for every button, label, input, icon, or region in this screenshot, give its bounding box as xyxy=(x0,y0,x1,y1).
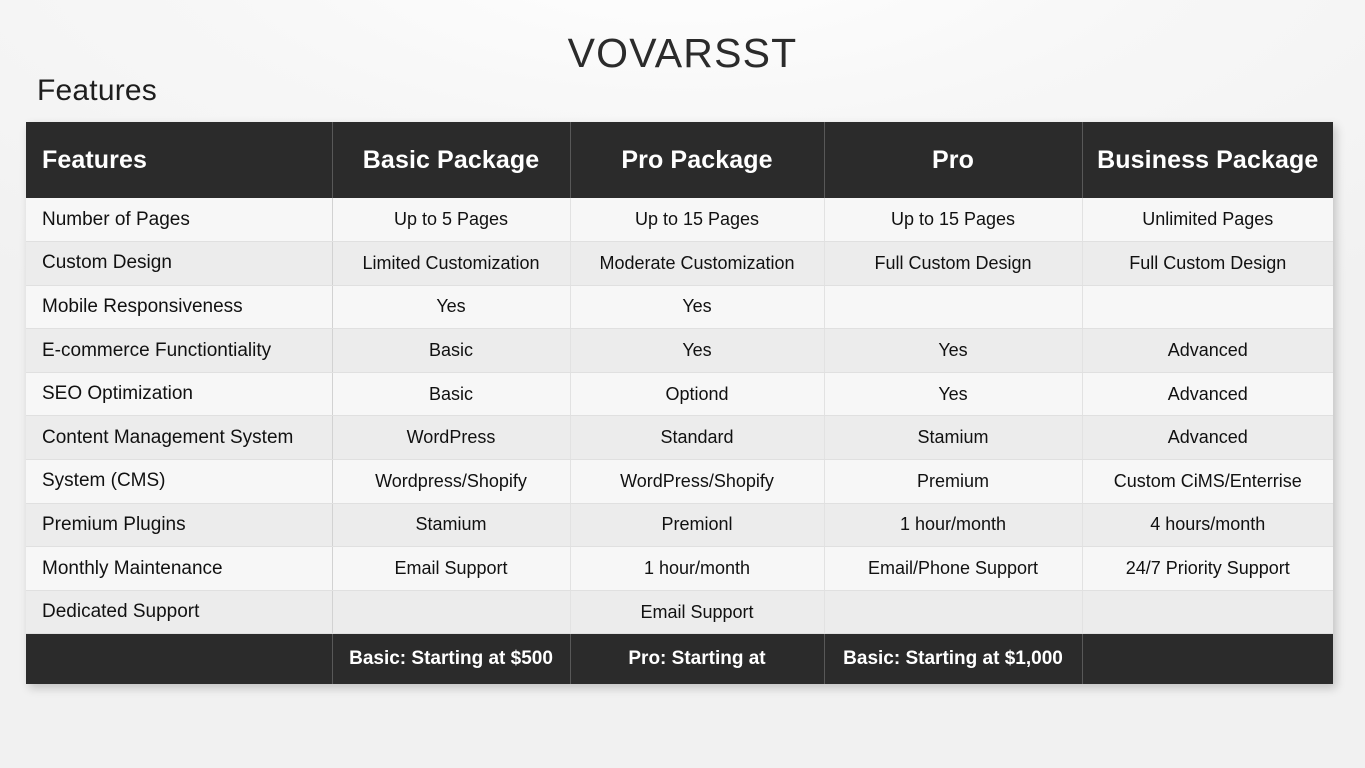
feature-value-cell-pro: 1 hour/month xyxy=(824,503,1082,547)
feature-value-cell-pro_pkg: Email Support xyxy=(570,590,824,634)
feature-value-cell-pro_pkg: Premionl xyxy=(570,503,824,547)
table-header: Features Basic Package Pro Package Pro B… xyxy=(26,122,1333,198)
feature-value-cell-basic: Basic xyxy=(332,372,570,416)
feature-value-cell-pro: Stamium xyxy=(824,416,1082,460)
table-row: Number of PagesUp to 5 PagesUp to 15 Pag… xyxy=(26,198,1333,242)
feature-value-cell-pro: Yes xyxy=(824,329,1082,373)
table-footer: Basic: Starting at $500 Pro: Starting at… xyxy=(26,634,1333,684)
feature-value-cell-pro_pkg: Up to 15 Pages xyxy=(570,198,824,242)
feature-value-cell-business: 4 hours/month xyxy=(1082,503,1333,547)
pricing-cell-business xyxy=(1082,634,1333,684)
feature-name-cell: SEO Optimization xyxy=(26,372,332,416)
feature-value-cell-business: Advanced xyxy=(1082,329,1333,373)
feature-name-cell: System (CMS) xyxy=(26,460,332,504)
feature-value-cell-basic: Email Support xyxy=(332,547,570,591)
column-header-features: Features xyxy=(26,122,332,198)
feature-value-cell-pro_pkg: Optiond xyxy=(570,372,824,416)
feature-value-cell-basic: Limited Customization xyxy=(332,242,570,286)
feature-value-cell-basic: Basic xyxy=(332,329,570,373)
feature-name-cell: Dedicated Support xyxy=(26,590,332,634)
column-header-pro: Pro xyxy=(824,122,1082,198)
feature-value-cell-pro_pkg: Moderate Customization xyxy=(570,242,824,286)
table-row: E-commerce FunctiontialityBasicYesYesAdv… xyxy=(26,329,1333,373)
feature-value-cell-business xyxy=(1082,590,1333,634)
feature-value-cell-basic: Up to 5 Pages xyxy=(332,198,570,242)
feature-name-cell: E-commerce Functiontiality xyxy=(26,329,332,373)
feature-value-cell-pro: Yes xyxy=(824,372,1082,416)
feature-value-cell-pro_pkg: Standard xyxy=(570,416,824,460)
feature-value-cell-business: Advanced xyxy=(1082,416,1333,460)
table-row: System (CMS)Wordpress/ShopifyWordPress/S… xyxy=(26,460,1333,504)
feature-value-cell-pro: Up to 15 Pages xyxy=(824,198,1082,242)
feature-value-cell-business: Unlimited Pages xyxy=(1082,198,1333,242)
pricing-cell-basic: Basic: Starting at $500 xyxy=(332,634,570,684)
table-row: Dedicated SupportEmail Support xyxy=(26,590,1333,634)
table-row: SEO OptimizationBasicOptiondYesAdvanced xyxy=(26,372,1333,416)
column-header-pro-package: Pro Package xyxy=(570,122,824,198)
feature-name-cell: Monthly Maintenance xyxy=(26,547,332,591)
feature-value-cell-pro_pkg: Yes xyxy=(570,285,824,329)
feature-value-cell-pro_pkg: Yes xyxy=(570,329,824,373)
feature-name-cell: Mobile Responsiveness xyxy=(26,285,332,329)
feature-name-cell: Number of Pages xyxy=(26,198,332,242)
feature-value-cell-business: Full Custom Design xyxy=(1082,242,1333,286)
table-row: Content Management SystemWordPressStanda… xyxy=(26,416,1333,460)
pricing-cell-pro: Basic: Starting at $1,000 xyxy=(824,634,1082,684)
table-row: Mobile ResponsivenessYesYes xyxy=(26,285,1333,329)
feature-value-cell-business: Custom CiMS/Enterrise xyxy=(1082,460,1333,504)
feature-value-cell-business xyxy=(1082,285,1333,329)
pricing-row: Basic: Starting at $500 Pro: Starting at… xyxy=(26,634,1333,684)
feature-value-cell-pro: Email/Phone Support xyxy=(824,547,1082,591)
pricing-cell-features xyxy=(26,634,332,684)
feature-comparison-table: Features Basic Package Pro Package Pro B… xyxy=(26,122,1333,684)
feature-value-cell-pro_pkg: WordPress/Shopify xyxy=(570,460,824,504)
table-row: Premium PluginsStamiumPremionl1 hour/mon… xyxy=(26,503,1333,547)
feature-value-cell-basic: Stamium xyxy=(332,503,570,547)
column-header-business-package: Business Package xyxy=(1082,122,1333,198)
slide-canvas: VOVARSST Features Features Basic Package… xyxy=(0,0,1365,768)
comparison-table-container: Features Basic Package Pro Package Pro B… xyxy=(26,122,1333,684)
feature-value-cell-business: Advanced xyxy=(1082,372,1333,416)
feature-value-cell-basic xyxy=(332,590,570,634)
page-title: VOVARSST xyxy=(0,30,1365,77)
pricing-cell-pro-package: Pro: Starting at xyxy=(570,634,824,684)
feature-value-cell-pro_pkg: 1 hour/month xyxy=(570,547,824,591)
feature-value-cell-basic: WordPress xyxy=(332,416,570,460)
feature-value-cell-basic: Wordpress/Shopify xyxy=(332,460,570,504)
section-title: Features xyxy=(37,74,157,108)
table-row: Monthly MaintenanceEmail Support1 hour/m… xyxy=(26,547,1333,591)
feature-value-cell-business: 24/7 Priority Support xyxy=(1082,547,1333,591)
feature-value-cell-pro: Premium xyxy=(824,460,1082,504)
feature-value-cell-pro: Full Custom Design xyxy=(824,242,1082,286)
table-header-row: Features Basic Package Pro Package Pro B… xyxy=(26,122,1333,198)
feature-name-cell: Content Management System xyxy=(26,416,332,460)
feature-value-cell-pro xyxy=(824,285,1082,329)
feature-value-cell-pro xyxy=(824,590,1082,634)
table-body: Number of PagesUp to 5 PagesUp to 15 Pag… xyxy=(26,198,1333,634)
feature-name-cell: Custom Design xyxy=(26,242,332,286)
feature-name-cell: Premium Plugins xyxy=(26,503,332,547)
column-header-basic-package: Basic Package xyxy=(332,122,570,198)
feature-value-cell-basic: Yes xyxy=(332,285,570,329)
table-row: Custom DesignLimited CustomizationModera… xyxy=(26,242,1333,286)
